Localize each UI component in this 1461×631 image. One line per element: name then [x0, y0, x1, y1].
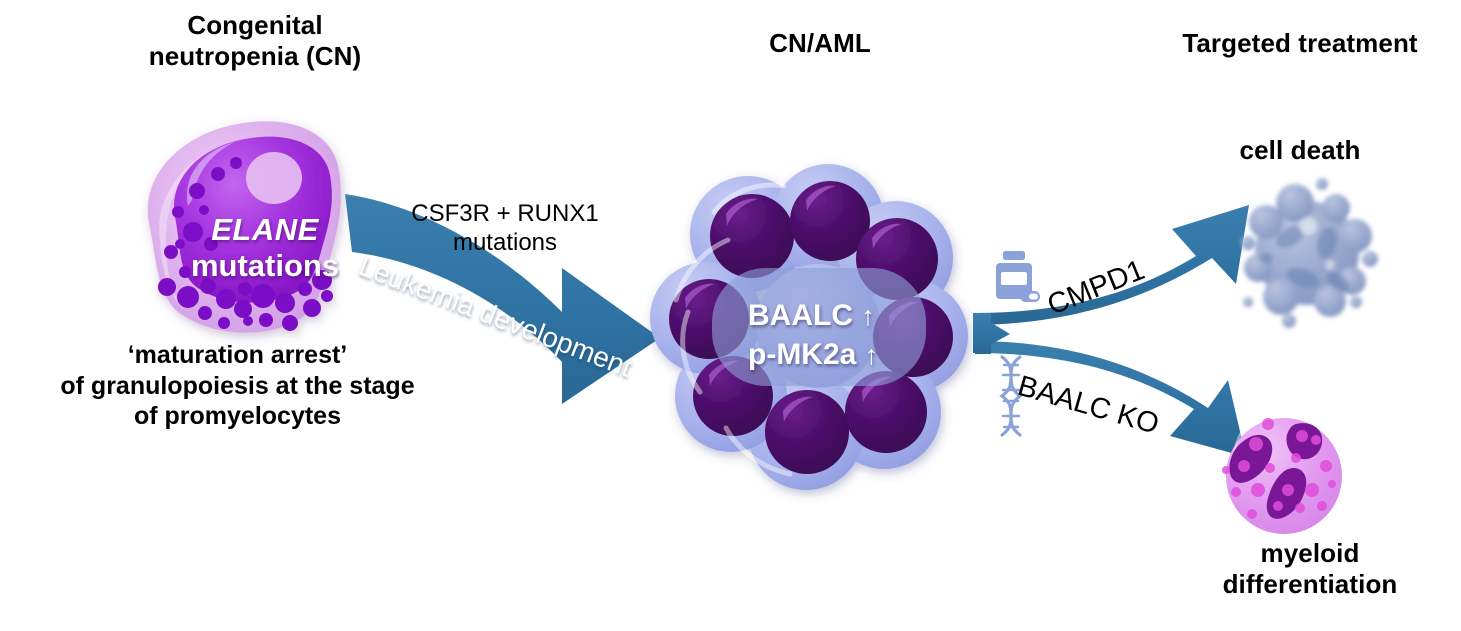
myeloid-line2: differentiation [1165, 569, 1455, 600]
header-left: Congenital neutropenia (CN) [70, 10, 440, 71]
caption-line2: of granulopoiesis at the stage [15, 371, 460, 402]
caption-line1: ‘maturation arrest’ [15, 340, 460, 371]
granules [1222, 418, 1336, 519]
header-center: CN/AML [690, 28, 950, 59]
header-left-line2: neutropenia (CN) [70, 41, 440, 72]
cmpd1-label: CMPD1 [1043, 254, 1149, 323]
neutrophil-cell [1222, 408, 1342, 534]
marker-baalc: BAALC ↑ [748, 296, 878, 335]
marker-baalc-name: BAALC [748, 299, 853, 332]
apoptotic-cell [1241, 178, 1378, 328]
cell-death-title: cell death [1190, 135, 1410, 166]
caption-line3: of promyelocytes [15, 401, 460, 432]
myeloid-differentiation-title: myeloid differentiation [1165, 538, 1455, 599]
figure-canvas: Congenital neutropenia (CN) CN/AML Targe… [0, 0, 1461, 631]
marker-pmk2a-trend: ↑ [865, 340, 879, 370]
pill-bottle-icon [996, 251, 1040, 302]
myeloid-line1: myeloid [1165, 538, 1455, 569]
nucleus-lobes [1229, 423, 1322, 519]
csf3r-runx1-label: CSF3R + RUNX1 mutations [390, 200, 620, 258]
maturation-arrest-caption: ‘maturation arrest’ of granulopoiesis at… [15, 340, 460, 432]
elane-gene-label: ELANE [150, 212, 380, 248]
marker-pmk2a: p-MK2a ↑ [748, 335, 878, 374]
baalc-ko-label: BAALC KO [1014, 370, 1163, 442]
csf3r-runx1-line2: mutations [390, 229, 620, 258]
marker-pmk2a-name: p-MK2a [748, 338, 856, 371]
mutations-label: mutations [150, 248, 380, 284]
diagram-graphics [0, 0, 1461, 631]
header-left-line1: Congenital [70, 10, 440, 41]
marker-list: BAALC ↑ p-MK2a ↑ [748, 296, 878, 374]
elane-mutations-label: ELANE mutations [150, 212, 380, 284]
csf3r-runx1-line1: CSF3R + RUNX1 [390, 200, 620, 229]
header-right: Targeted treatment [1145, 28, 1455, 59]
marker-baalc-trend: ↑ [861, 301, 875, 331]
